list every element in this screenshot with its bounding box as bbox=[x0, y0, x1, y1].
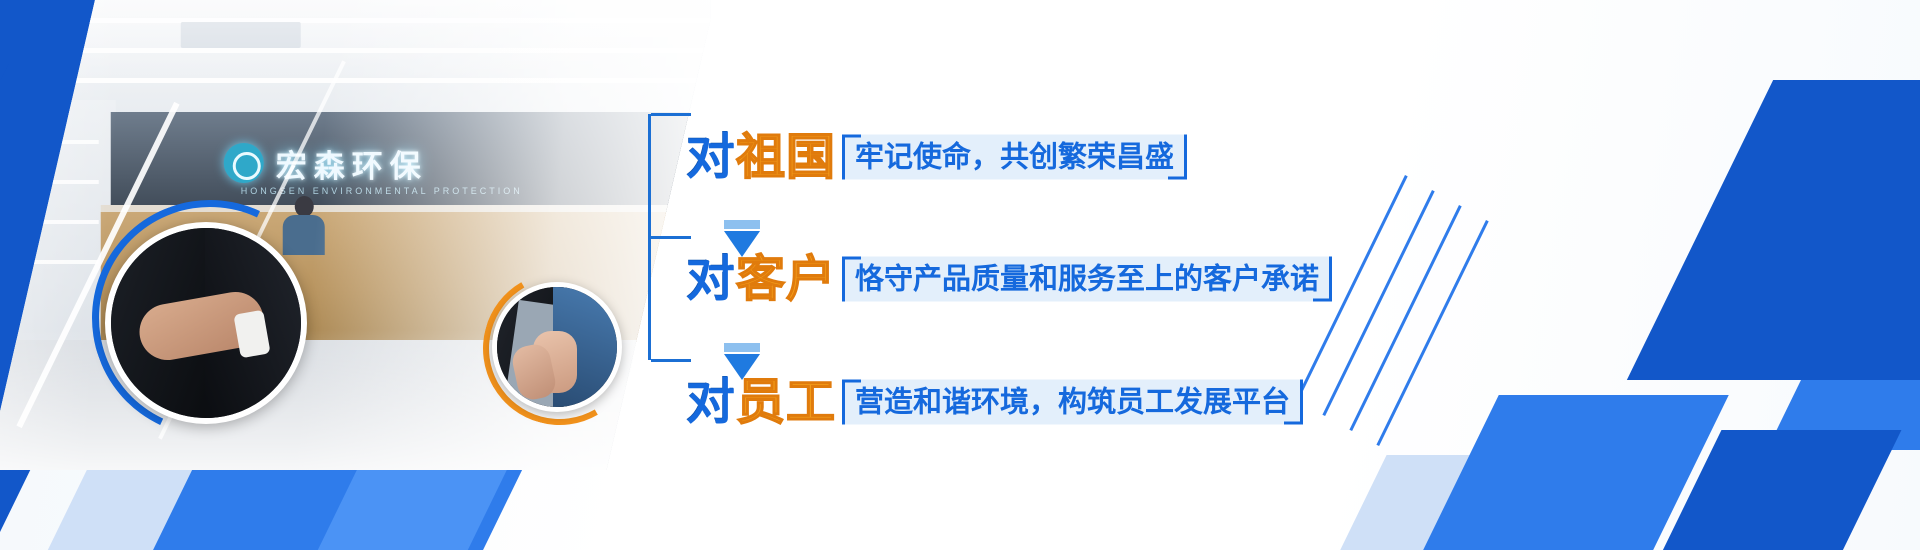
slogan-keyword-country: 对祖国 bbox=[686, 133, 836, 182]
slogan-row-employee: 对员工 营造和谐环境，构筑员工发展平台 bbox=[686, 378, 1303, 427]
arrow-cap bbox=[724, 220, 760, 229]
slogan-prefix-employee: 对 bbox=[686, 374, 736, 431]
slogan-keyword-employee: 对员工 bbox=[686, 378, 836, 427]
arrow-cap bbox=[724, 343, 760, 352]
promo-banner: 宏森环保 HONGSEN ENVIRONMENTAL PROTECTION bbox=[0, 0, 1920, 550]
decor-shape-right-big bbox=[1627, 80, 1920, 380]
slogan-target-employee: 员工 bbox=[736, 374, 836, 431]
applause-photo bbox=[492, 282, 622, 412]
handshake-photo bbox=[105, 222, 307, 424]
decor-diagonal-line bbox=[1349, 205, 1461, 431]
bracket-tick-2 bbox=[651, 236, 691, 239]
bracket-tick-1 bbox=[651, 113, 691, 116]
slogan-row-customer: 对客户 恪守产品质量和服务至上的客户承诺 bbox=[686, 255, 1332, 304]
bracket-connector bbox=[648, 114, 691, 360]
slogan-description-country: 牢记使命，共创繁荣昌盛 bbox=[842, 134, 1187, 179]
decor-diagonal-line bbox=[1376, 220, 1488, 446]
slogan-row-country: 对祖国 牢记使命，共创繁荣昌盛 bbox=[686, 133, 1187, 182]
slogan-prefix-country: 对 bbox=[686, 129, 736, 186]
slogan-target-country: 祖国 bbox=[736, 129, 836, 186]
slogan-description-customer: 恪守产品质量和服务至上的客户承诺 bbox=[842, 256, 1332, 301]
slogan-prefix-customer: 对 bbox=[686, 251, 736, 308]
slogan-description-employee: 营造和谐环境，构筑员工发展平台 bbox=[842, 379, 1303, 424]
slogan-target-customer: 客户 bbox=[736, 251, 836, 308]
bracket-tick-3 bbox=[651, 359, 691, 362]
slogan-keyword-customer: 对客户 bbox=[686, 255, 836, 304]
slogan-block: 对祖国 牢记使命，共创繁荣昌盛 对客户 恪守产品质量和服务至上的客户承诺 对员工… bbox=[648, 72, 1348, 402]
